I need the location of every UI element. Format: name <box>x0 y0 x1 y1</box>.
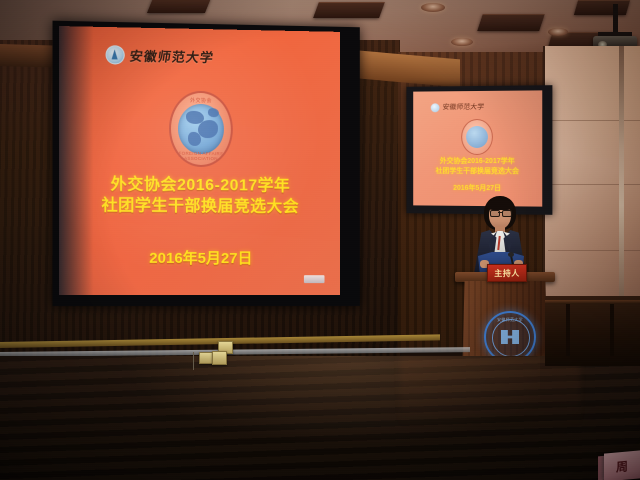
wall-panel-seam <box>548 184 640 185</box>
main-projection-screen: 安徽师范大学 外交协会 FOREIGN AFFAIRS ASSOCIATION … <box>59 26 340 295</box>
card-stand <box>193 352 194 370</box>
host-placard-text: 主持人 <box>494 268 520 279</box>
ceiling-downlight-icon <box>548 28 568 36</box>
photo-scene: 安徽师范大学 外交协会 FOREIGN AFFAIRS ASSOCIATION … <box>0 0 640 480</box>
placard-card <box>199 352 213 364</box>
name-card-text: 周 <box>616 457 628 475</box>
side-monitor-screen: 安徽师范大学 外交协会2016-2017学年 社团学生干部换届竞选大会 2016… <box>413 90 542 206</box>
eyeglasses-bridge <box>498 212 502 213</box>
eyeglasses-icon <box>502 210 512 217</box>
university-crest-icon <box>431 103 440 112</box>
wall-metal-strip <box>619 46 624 336</box>
ceiling-vent-icon <box>574 0 630 15</box>
wall-panel-seam <box>548 250 640 251</box>
side-title-line2: 社团学生干部换届竞选大会 <box>413 166 542 176</box>
projector-mount-pole <box>613 4 618 34</box>
furniture-rail <box>545 300 640 304</box>
side-slide-title: 外交协会2016-2017学年 社团学生干部换届竞选大会 <box>413 157 542 176</box>
side-association-emblem-icon <box>461 119 493 155</box>
furniture-post <box>566 304 570 356</box>
foreground-name-card: 周 <box>604 450 640 480</box>
host-placard: 主持人 <box>487 264 527 282</box>
ceiling-vent-icon <box>477 14 545 31</box>
wall-panel-seam <box>548 120 640 121</box>
floor-reflection <box>400 356 580 426</box>
ceiling-vent-icon <box>147 0 211 13</box>
ceiling-downlight-icon <box>421 3 445 12</box>
hair-fringe <box>487 199 513 210</box>
microphone-icon <box>508 252 514 257</box>
furniture-post <box>610 304 614 356</box>
placard-card <box>212 351 227 365</box>
side-slide-date: 2016年5月27日 <box>413 183 542 194</box>
side-title-line1: 外交协会2016-2017学年 <box>413 157 542 167</box>
side-screen-logo: 安徽师范大学 <box>431 102 484 112</box>
ceiling-downlight-icon <box>451 38 473 46</box>
stage-furniture <box>545 296 640 366</box>
ceiling-vent-icon <box>313 2 385 18</box>
side-university-name-text: 安徽师范大学 <box>442 102 485 112</box>
side-globe-icon <box>466 126 488 148</box>
screen-light-wash <box>59 26 340 295</box>
